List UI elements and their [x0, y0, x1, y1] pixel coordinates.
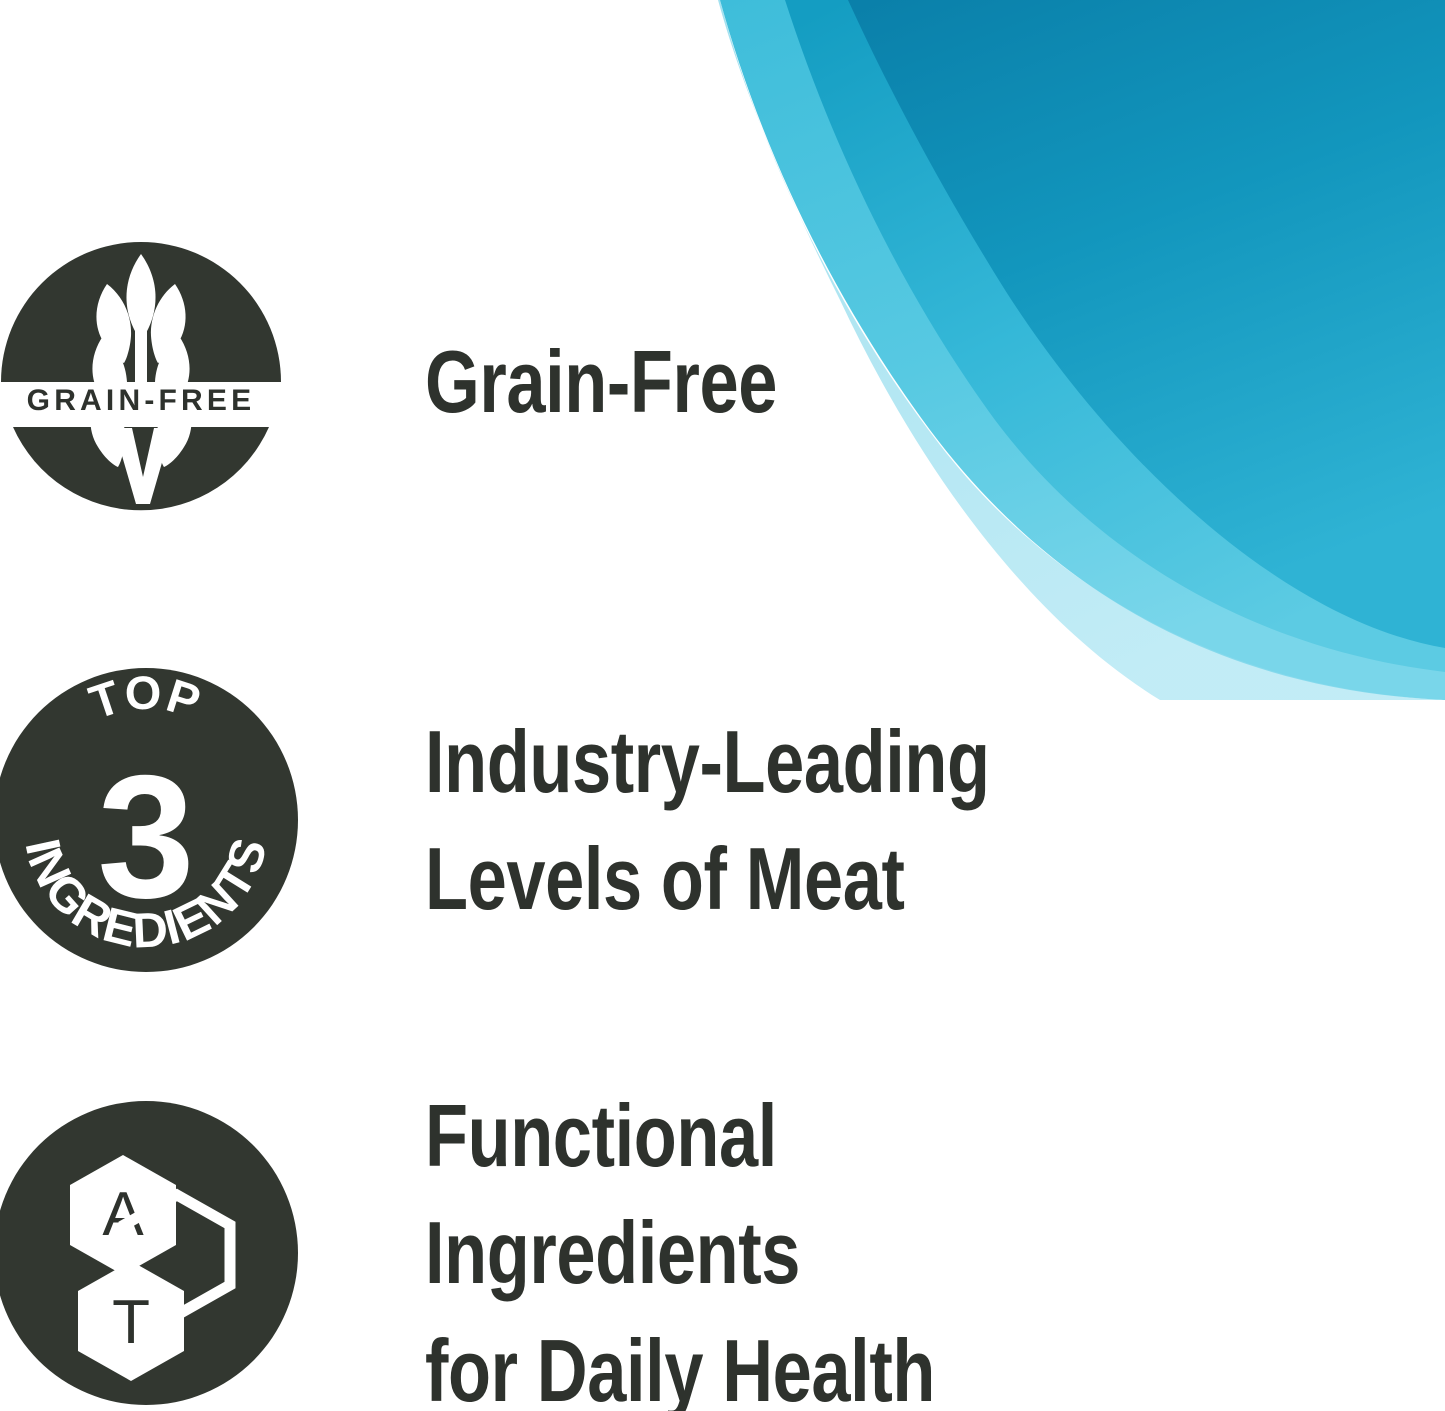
feature-label-functional-ingredients: Functional Ingredients for Daily Health: [425, 1077, 1125, 1411]
badge-slot-top-3: TOP 3 INGREDIENTS: [0, 665, 320, 975]
feature-row-top-3-ingredients: TOP 3 INGREDIENTS Industry-Leading Level…: [0, 665, 1300, 975]
top-3-ingredients-badge-icon: TOP 3 INGREDIENTS: [0, 665, 311, 975]
functional-ingredients-badge-icon: A T: [0, 1098, 311, 1408]
hexagon-label-t: T: [112, 1288, 150, 1357]
feature-row-grain-free: GRAIN-FREE Grain-Free: [0, 232, 1300, 532]
grain-free-wordmark: GRAIN-FREE: [27, 384, 256, 417]
feature-row-functional-ingredients: A T Functional Ingredients for Daily Hea…: [0, 1098, 1300, 1408]
feature-label-grain-free: Grain-Free: [425, 323, 1125, 440]
infographic-page: GRAIN-FREE Grain-Free TOP 3 INGREDIENTS: [0, 0, 1445, 1411]
badge-slot-hexagons: A T: [0, 1098, 320, 1408]
badge-slot-grain-free: GRAIN-FREE: [0, 232, 320, 532]
grain-free-badge-icon: GRAIN-FREE: [0, 232, 311, 532]
feature-label-industry-leading: Industry-Leading Levels of Meat: [425, 703, 1125, 937]
